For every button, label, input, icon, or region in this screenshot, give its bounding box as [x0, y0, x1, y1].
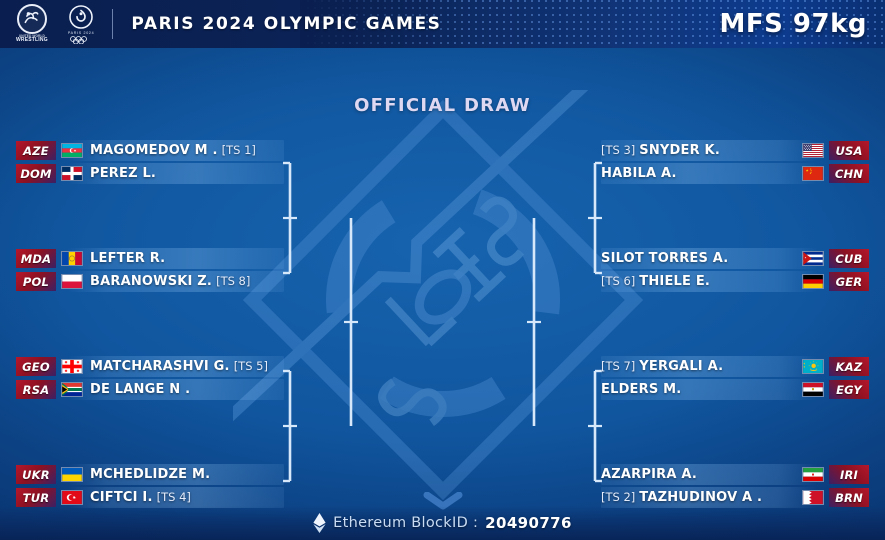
bracket-pair: GEOMATCHARASHVI G.[TS 5]RSADE LANGE N .	[16, 356, 284, 400]
athlete-row[interactable]: IRIAZARPIRA A.	[601, 464, 869, 485]
athlete-name: TAZHUDINOV A .	[639, 490, 762, 505]
athlete-name-group: SNYDER K.[TS 3]	[601, 143, 797, 158]
country-code-badge: KAZ	[829, 357, 869, 376]
athlete-seed: [TS 3]	[601, 143, 635, 157]
uww-wrestling-logo: UNITED WORLD WRESTLING	[16, 4, 48, 44]
athlete-seed: [TS 2]	[601, 490, 635, 504]
athlete-name: MAGOMEDOV M .	[90, 143, 218, 158]
athlete-name: SILOT TORRES A.	[601, 251, 728, 266]
country-code-badge: DOM	[16, 164, 56, 183]
country-code-badge: CHN	[829, 164, 869, 183]
athlete-name: DE LANGE N .	[90, 382, 190, 397]
bracket-pair: USASNYDER K.[TS 3]CHNHABILA A.	[601, 140, 869, 184]
bracket-pair: MDALEFTER R.POLBARANOWSKI Z.[TS 8]	[16, 248, 284, 292]
blockid-value: 20490776	[485, 514, 572, 532]
country-code-badge: POL	[16, 272, 56, 291]
athlete-name: YERGALI A.	[639, 359, 723, 374]
flag-icon-turkey	[61, 490, 83, 505]
athlete-name: ELDERS M.	[601, 382, 681, 397]
athlete-name-group: DE LANGE N .	[88, 382, 284, 397]
bracket-pair: AZEMAGOMEDOV M .[TS 1]DOMPEREZ L.	[16, 140, 284, 184]
athlete-row[interactable]: GEOMATCHARASHVI G.[TS 5]	[16, 356, 284, 377]
header-divider	[112, 9, 113, 39]
athlete-row[interactable]: TURCIFTCI I.[TS 4]	[16, 487, 284, 508]
flag-icon-egypt	[802, 382, 824, 397]
flag-icon-united-states	[802, 143, 824, 158]
paris-2024-logo: PARIS 2024	[68, 4, 95, 45]
athlete-row[interactable]: AZEMAGOMEDOV M .[TS 1]	[16, 140, 284, 161]
flag-icon-poland	[61, 274, 83, 289]
athlete-name-group: HABILA A.	[601, 166, 797, 181]
athlete-name-group: YERGALI A.[TS 7]	[601, 359, 797, 374]
bracket-pair: IRIAZARPIRA A.BRNTAZHUDINOV A .[TS 2]	[601, 464, 869, 508]
uww-logo-sublabel: UNITED WORLD	[16, 35, 48, 39]
athlete-name-group: LEFTER R.	[88, 251, 284, 266]
athlete-row[interactable]: KAZYERGALI A.[TS 7]	[601, 356, 869, 377]
athlete-row[interactable]: EGYELDERS M.	[601, 379, 869, 400]
page-header: UNITED WORLD WRESTLING PARIS 2024	[0, 0, 885, 48]
flag-icon-kazakhstan	[802, 359, 824, 374]
country-code-badge: BRN	[829, 488, 869, 507]
athlete-seed: [TS 1]	[222, 143, 256, 157]
country-code-badge: EGY	[829, 380, 869, 399]
athlete-name-group: BARANOWSKI Z.[TS 8]	[88, 274, 284, 289]
athlete-row[interactable]: GERTHIELE E.[TS 6]	[601, 271, 869, 292]
flag-icon-china	[802, 166, 824, 181]
flag-icon-dominican-republic	[61, 166, 83, 181]
flag-icon-moldova	[61, 251, 83, 266]
athlete-row[interactable]: MDALEFTER R.	[16, 248, 284, 269]
athlete-seed: [TS 5]	[234, 359, 268, 373]
flag-icon-cuba	[802, 251, 824, 266]
official-draw-title: OFFICIAL DRAW	[0, 95, 885, 116]
athlete-name: MATCHARASHVI G.	[90, 359, 230, 374]
flag-icon-bahrain	[802, 490, 824, 505]
athlete-row[interactable]: DOMPEREZ L.	[16, 163, 284, 184]
athlete-name-group: THIELE E.[TS 6]	[601, 274, 797, 289]
paris-logo-label: PARIS 2024	[68, 31, 95, 35]
draw-sheet: UNITED WORLD WRESTLING PARIS 2024	[0, 0, 885, 540]
athlete-seed: [TS 8]	[216, 274, 250, 288]
wrestling-icon	[17, 4, 47, 34]
blockchain-footer: Ethereum BlockID : 20490776	[0, 506, 885, 540]
athlete-row[interactable]: CHNHABILA A.	[601, 163, 869, 184]
flag-icon-azerbaijan	[61, 143, 83, 158]
athlete-name: PEREZ L.	[90, 166, 156, 181]
athlete-row[interactable]: CUBSILOT TORRES A.	[601, 248, 869, 269]
athlete-name-group: AZARPIRA A.	[601, 467, 797, 482]
athlete-name: SNYDER K.	[639, 143, 720, 158]
athlete-name-group: MATCHARASHVI G.[TS 5]	[88, 359, 284, 374]
flag-icon-south-africa	[61, 382, 83, 397]
ethereum-icon	[313, 513, 326, 533]
flag-icon-georgia	[61, 359, 83, 374]
flag-icon-iran	[802, 467, 824, 482]
athlete-seed: [TS 6]	[601, 274, 635, 288]
athlete-row[interactable]: UKRMCHEDLIDZE M.	[16, 464, 284, 485]
country-code-badge: GER	[829, 272, 869, 291]
country-code-badge: GEO	[16, 357, 56, 376]
country-code-badge: UKR	[16, 465, 56, 484]
country-code-badge: IRI	[829, 465, 869, 484]
athlete-row[interactable]: BRNTAZHUDINOV A .[TS 2]	[601, 487, 869, 508]
bracket-pair: KAZYERGALI A.[TS 7]EGYELDERS M.	[601, 356, 869, 400]
athlete-name-group: TAZHUDINOV A .[TS 2]	[601, 490, 797, 505]
athlete-name-group: MCHEDLIDZE M.	[88, 467, 284, 482]
athlete-row[interactable]: POLBARANOWSKI Z.[TS 8]	[16, 271, 284, 292]
weight-class-badge: MFS 97kg	[720, 9, 868, 39]
country-code-badge: MDA	[16, 249, 56, 268]
country-code-badge: USA	[829, 141, 869, 160]
country-code-badge: TUR	[16, 488, 56, 507]
flag-icon-germany	[802, 274, 824, 289]
bracket-pair: UKRMCHEDLIDZE M.TURCIFTCI I.[TS 4]	[16, 464, 284, 508]
athlete-name: AZARPIRA A.	[601, 467, 697, 482]
athlete-name-group: MAGOMEDOV M .[TS 1]	[88, 143, 284, 158]
country-code-badge: RSA	[16, 380, 56, 399]
olympic-rings-icon	[69, 36, 93, 44]
country-code-badge: CUB	[829, 249, 869, 268]
athlete-name: MCHEDLIDZE M.	[90, 467, 210, 482]
athlete-seed: [TS 4]	[157, 490, 191, 504]
flag-icon-ukraine	[61, 467, 83, 482]
athlete-seed: [TS 7]	[601, 359, 635, 373]
athlete-name: LEFTER R.	[90, 251, 165, 266]
paris-flame-icon	[68, 4, 94, 30]
athlete-row[interactable]: RSADE LANGE N .	[16, 379, 284, 400]
athlete-name-group: SILOT TORRES A.	[601, 251, 797, 266]
athlete-name: CIFTCI I.	[90, 490, 153, 505]
blockid-label: Ethereum BlockID :	[333, 515, 478, 531]
athlete-name-group: ELDERS M.	[601, 382, 797, 397]
athlete-name: BARANOWSKI Z.	[90, 274, 212, 289]
athlete-name-group: CIFTCI I.[TS 4]	[88, 490, 284, 505]
athlete-name: HABILA A.	[601, 166, 677, 181]
athlete-row[interactable]: USASNYDER K.[TS 3]	[601, 140, 869, 161]
athlete-name-group: PEREZ L.	[88, 166, 284, 181]
page-title: PARIS 2024 OLYMPIC GAMES	[131, 14, 441, 34]
country-code-badge: AZE	[16, 141, 56, 160]
bracket-pair: CUBSILOT TORRES A.GERTHIELE E.[TS 6]	[601, 248, 869, 292]
background-watermark	[233, 90, 653, 510]
uww-logo-label: UNITED WORLD WRESTLING	[16, 35, 48, 44]
athlete-name: THIELE E.	[639, 274, 710, 289]
